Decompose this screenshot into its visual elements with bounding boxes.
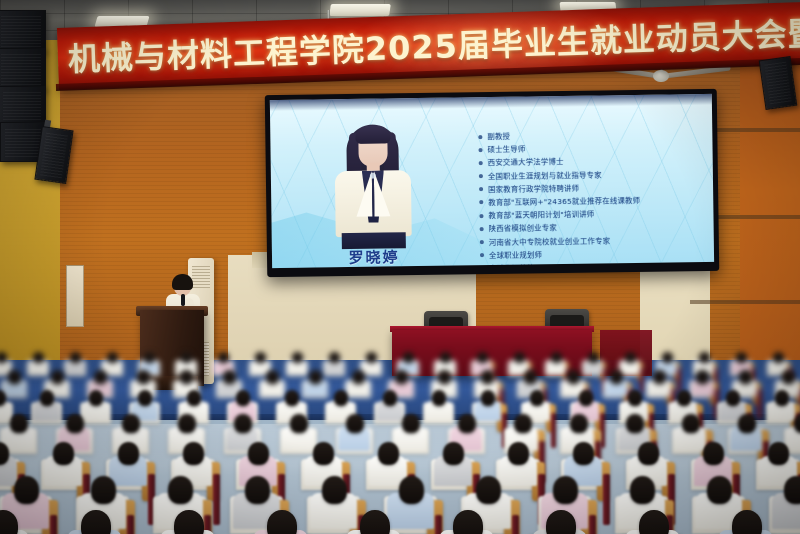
audience-member-head [267,510,297,534]
audience-row [0,340,800,534]
fan-hub [653,70,669,82]
bullet-dot-icon [480,253,484,257]
audience-member-head [174,510,204,534]
slide-portrait-photo [326,114,420,249]
wall-mounted-speaker [759,56,798,110]
portrait-necklace [370,173,376,179]
slide-bullet-item: 国家教育行政学院特聘讲师 [479,180,714,195]
slide-bullet-item: 西安交通大学法学博士 [479,154,714,169]
slide-bullet-text: 陕西省模拟创业专家 [489,222,557,234]
slide-bullet-item: 硕士生导师 [478,141,714,156]
slide-bullet-text: 河南省大中专院校就业创业工作专家 [489,235,611,248]
slide-surface: 罗晓婷 副教授硕士生导师西安交通大学法学博士全国职业生涯规划与就业指导专家国家教… [270,94,714,268]
slide-speaker-name: 罗晓婷 [324,246,424,268]
slide-bullet-text: 全球职业规划师 [489,249,542,261]
bullet-dot-icon [479,201,483,205]
slide-bullet-text: 硕士生导师 [487,144,525,156]
loudspeaker-cabinet [0,48,46,90]
slide-bullet-item: 河南省大中专院校就业创业工作专家 [480,233,714,248]
loudspeaker-cabinet [0,10,46,52]
bullet-dot-icon [478,135,482,139]
bullet-dot-icon [479,187,483,191]
bullet-dot-icon [480,240,484,244]
slide-bullet-item: 陕西省模拟创业专家 [480,220,715,235]
slide-credentials-list: 副教授硕士生导师西安交通大学法学博士全国职业生涯规划与就业指导专家国家教育行政学… [438,128,714,268]
presentation-display: 罗晓婷 副教授硕士生导师西安交通大学法学博士全国职业生涯规划与就业指导专家国家教… [265,89,719,277]
speaker-mesh [1,15,41,47]
microphone [181,294,185,306]
wall-inset-panel [66,265,84,327]
slide-bullet-item: 教育部"蓝天朝阳计划"培训讲师 [479,207,714,222]
audience-member-head [639,510,669,534]
audience-member-head [81,510,111,534]
slide-bullet-item: 副教授 [478,128,714,143]
bullet-dot-icon [480,266,484,268]
speaker-mesh [3,91,41,123]
bullet-dot-icon [479,148,483,152]
auditorium-photo: 机械与材料工程学院2025届毕业生就业动员大会暨就业指导专 [0,0,800,534]
bullet-dot-icon [479,174,483,178]
audience-member-head [453,510,483,534]
slide-bullet-text: 西安交通大学法学博士 [488,156,564,168]
slide-bullet-text: 全球生涯教练 [489,262,535,268]
speaker-mesh [40,132,68,179]
audience-member-head [360,510,390,534]
presenter-hair [172,274,193,290]
speaker-mesh [1,53,41,85]
slide-bullet-text: 教育部"蓝天朝阳计划"培训讲师 [488,209,594,221]
bullet-dot-icon [479,214,483,218]
bullet-dot-icon [480,227,484,231]
slide-bullet-text: 全国职业生涯规划与就业指导专家 [488,169,602,182]
audience-seating [0,340,800,534]
audience-member-head [546,510,576,534]
speaker-mesh [764,62,791,105]
bullet-dot-icon [479,161,483,165]
wall-band [690,300,800,304]
portrait-hair-front [355,125,390,143]
slide-bullet-text: 教育部"互联网+"24365就业推荐在线课教师 [488,195,640,208]
slide-bullet-item: 全国职业生涯规划与就业指导专家 [479,167,714,182]
slide-bullet-item: 全球生涯教练 [480,259,714,268]
slide-bullet-text: 国家教育行政学院特聘讲师 [488,183,579,195]
speaker-mesh [5,127,41,157]
slide-bullet-item: 全球职业规划师 [480,246,714,261]
slide-bullet-item: 教育部"互联网+"24365就业推荐在线课教师 [479,194,714,209]
slide-bullet-text: 副教授 [487,131,510,142]
audience-member-head [0,510,18,534]
audience-member-head [732,510,762,534]
